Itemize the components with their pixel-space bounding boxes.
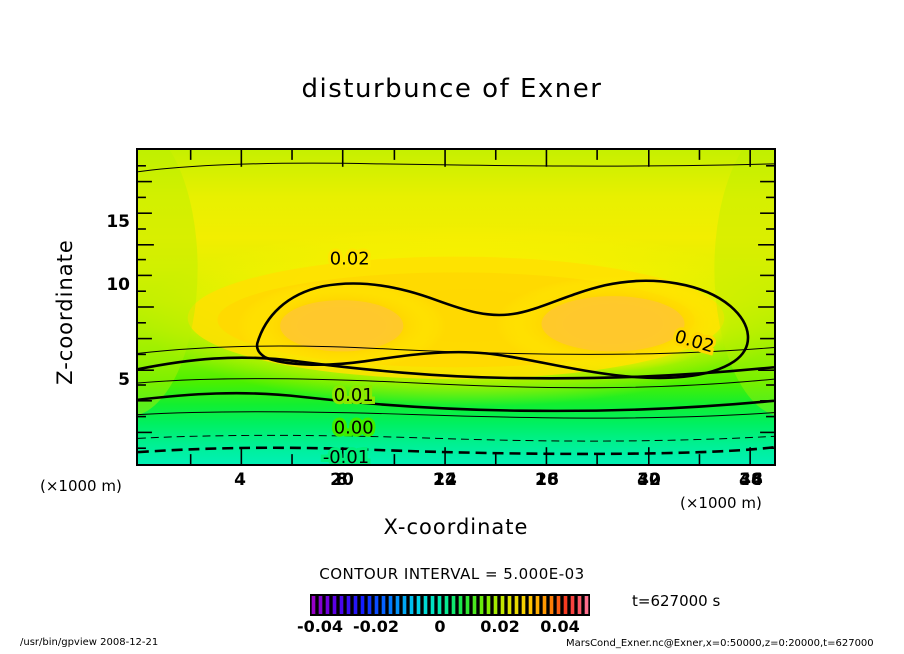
footer-command: /usr/bin/gpview 2008-12-21 (20, 637, 158, 648)
colorbar[interactable] (310, 594, 590, 616)
x-tick-label-48: 48 (731, 470, 771, 490)
time-label: t=627000 s (632, 592, 720, 610)
colorbar-tick-0: 0 (410, 617, 470, 636)
colorbar-tick--0.02: -0.02 (346, 617, 406, 636)
y-tick-label-10: 10 (96, 275, 130, 295)
x-tick-label-28: 28 (527, 470, 567, 490)
y-axis-units: (×1000 m) (40, 477, 122, 495)
page-title: disturbunce of Exner (0, 74, 904, 104)
colorbar-tick-labels: -0.04 -0.02 0 0.02 0.04 (290, 617, 610, 639)
colorbar-tick--0.04: -0.04 (290, 617, 350, 636)
contour-label-upper: 0.02 (330, 249, 370, 270)
x-tick-label-24: 24 (425, 470, 465, 490)
y-axis-title: Z-coordinate (53, 192, 77, 432)
contour-plot-area[interactable]: 0.02 0.02 0.01 0.00 -0.01 (136, 148, 776, 466)
contour-label-0p01: 0.01 (334, 385, 374, 406)
colorbar-tick-0.02: 0.02 (470, 617, 530, 636)
x-axis-units: (×1000 m) (680, 494, 762, 512)
x-tick-label-20: 20 (322, 470, 362, 490)
x-tick-label-4: 4 (220, 470, 260, 490)
contour-label-neg0p01: -0.01 (323, 447, 369, 464)
footer-source: MarsCond_Exner.nc@Exner,x=0:50000,z=0:20… (566, 638, 874, 649)
contour-interval-label: CONTOUR INTERVAL = 5.000E-03 (0, 565, 904, 583)
contour-field-svg: 0.02 0.02 0.01 0.00 -0.01 (138, 150, 774, 464)
y-tick-label-15: 15 (96, 212, 130, 232)
colorbar-tick-0.04: 0.04 (530, 617, 590, 636)
x-axis-title: X-coordinate (276, 515, 636, 539)
colorbar-swatches (310, 594, 590, 616)
x-tick-label-40: 40 (629, 470, 669, 490)
contour-label-0p00: 0.00 (334, 417, 374, 438)
y-tick-label-5: 5 (96, 370, 130, 390)
